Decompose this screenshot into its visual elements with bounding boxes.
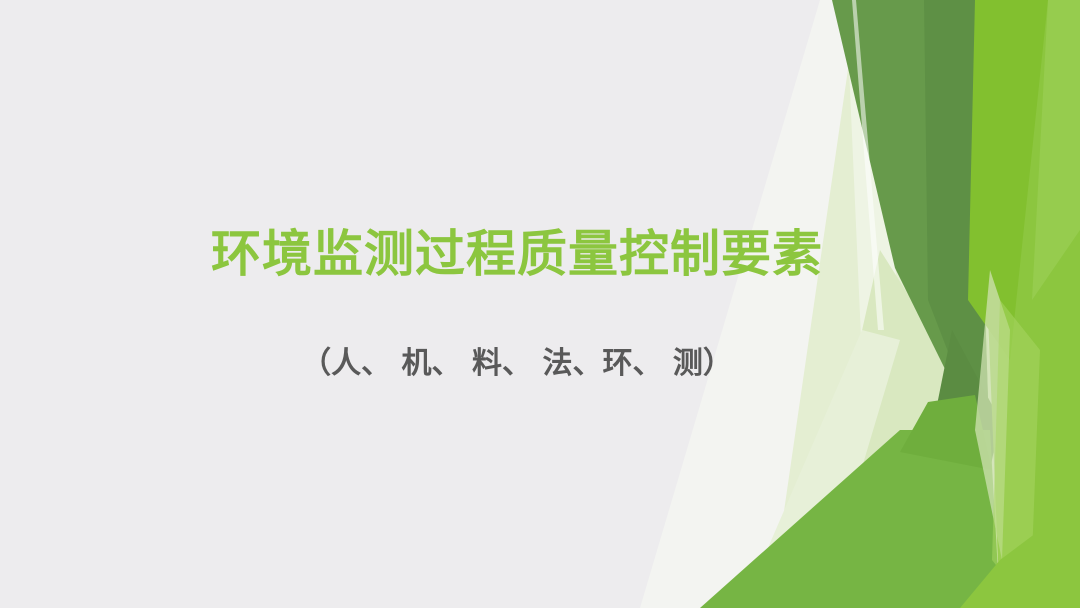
slide-text-block: 环境监测过程质量控制要素 （人、 机、 料、 法、环、 测）	[0, 0, 1040, 608]
slide-title: 环境监测过程质量控制要素	[211, 227, 823, 282]
slide-subtitle: （人、 机、 料、 法、环、 测）	[301, 346, 733, 382]
presentation-slide: 环境监测过程质量控制要素 （人、 机、 料、 法、环、 测）	[0, 0, 1080, 608]
